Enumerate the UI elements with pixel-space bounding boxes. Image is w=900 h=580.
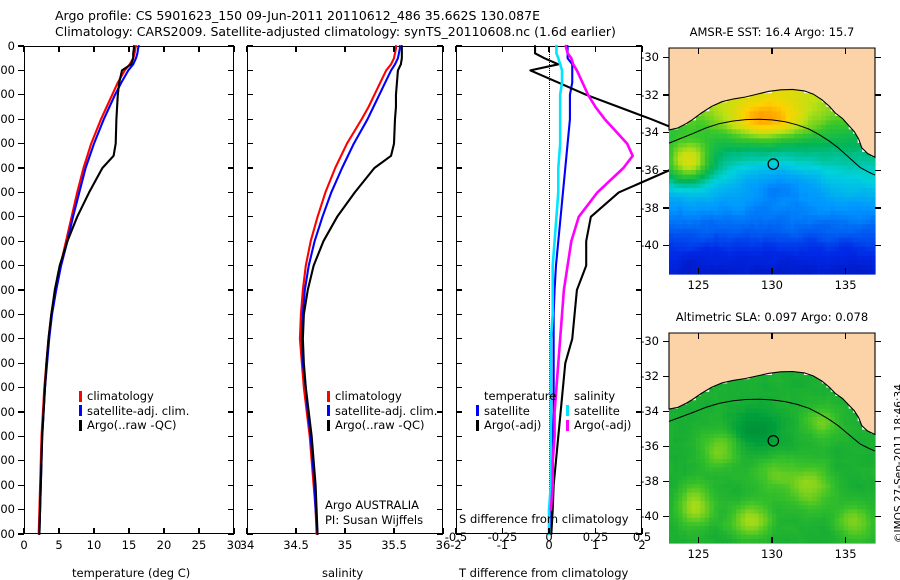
map-y-tick-right	[875, 94, 881, 95]
x-tick-label-temperature: 2	[638, 538, 645, 552]
y-tick-inner	[636, 45, 642, 46]
legend-label: Argo(..raw -QC)	[87, 418, 177, 433]
y-tick-label: 900	[0, 258, 15, 272]
sst-map-field	[669, 48, 875, 274]
page-title: Argo profile: CS 5901623_150 09-Jun-2011…	[55, 8, 675, 40]
legend-swatch-satellite-adj	[79, 405, 82, 416]
y-tick-inner	[228, 119, 234, 120]
y-tick-inner	[437, 265, 443, 266]
map-y-tick-label: -38	[640, 201, 659, 215]
y-tick-inner	[456, 192, 462, 193]
legend-label: satellite	[574, 404, 620, 418]
y-tick-label: 1800	[0, 478, 15, 492]
y-tick-inner	[456, 143, 462, 144]
y-tick-inner	[247, 436, 253, 437]
map-y-tick	[663, 376, 669, 377]
x-tick-top	[246, 46, 247, 52]
y-tick-inner	[456, 436, 462, 437]
y-tick-inner	[636, 387, 642, 388]
y-tick	[18, 314, 24, 315]
x-tick-label-temperature: -1	[497, 538, 508, 552]
y-tick-inner	[437, 70, 443, 71]
x-tick-label: 10	[87, 538, 102, 552]
y-tick-inner	[247, 70, 253, 71]
y-tick	[18, 265, 24, 266]
legend-swatch-temperature-argo-adj	[476, 420, 479, 431]
x-tick-top	[128, 46, 129, 52]
salinity-x-axis-label: salinity	[322, 566, 363, 580]
y-tick-inner	[456, 387, 462, 388]
x-tick-label: 5	[55, 538, 62, 552]
y-tick-inner	[636, 314, 642, 315]
map-y-tick-label: -32	[640, 88, 659, 102]
y-tick-inner	[456, 265, 462, 266]
map-x-tick-label: 125	[687, 278, 709, 292]
y-tick-label: 1700	[0, 453, 15, 467]
map-y-tick-right	[875, 245, 881, 246]
y-tick-inner	[456, 509, 462, 510]
map-x-tick-top	[771, 333, 772, 339]
y-tick	[18, 460, 24, 461]
salinity-curves	[247, 46, 443, 534]
legend-swatch-argo-raw	[327, 420, 330, 431]
y-tick-inner	[247, 289, 253, 290]
legend-label: Argo(-adj)	[574, 418, 631, 432]
legend-item: satellite-adj. clim.	[327, 404, 437, 419]
y-tick-inner	[456, 363, 462, 364]
x-tick-top	[163, 46, 164, 52]
x-tick	[295, 528, 296, 534]
map-x-tick-top	[698, 333, 699, 339]
legend-item: Argo(..raw -QC)	[79, 418, 189, 433]
y-tick-inner	[456, 314, 462, 315]
x-tick-label: 35	[338, 538, 353, 552]
map-x-tick	[771, 268, 772, 274]
y-tick	[18, 119, 24, 120]
y-tick-label: 200	[0, 87, 15, 101]
sla-map-panel: Altimetric SLA: 0.097 Argo: 0.078 125130…	[669, 333, 875, 543]
x-tick-label: 15	[122, 538, 137, 552]
y-tick-inner	[456, 216, 462, 217]
argo-australia-note: Argo AUSTRALIA PI: Susan Wijffels	[325, 498, 423, 527]
map-x-tick	[845, 537, 846, 543]
salinity-legend: climatology satellite-adj. clim. Argo(..…	[327, 389, 437, 433]
map-y-tick-right	[875, 207, 881, 208]
map-y-tick-label: -40	[640, 238, 659, 252]
map-y-tick-right	[875, 446, 881, 447]
map-y-tick	[663, 481, 669, 482]
legend-label: satellite-adj. clim.	[87, 404, 189, 419]
y-tick	[18, 143, 24, 144]
map-y-tick-label: -30	[640, 50, 659, 64]
map-x-tick	[771, 537, 772, 543]
y-tick	[18, 94, 24, 95]
y-tick-inner	[228, 314, 234, 315]
y-tick-inner	[437, 338, 443, 339]
legend-item: climatology	[79, 389, 189, 404]
map-x-tick-top	[771, 48, 772, 54]
difference-curves	[456, 46, 642, 534]
y-tick-inner	[456, 167, 462, 168]
legend-item: satellite	[476, 404, 556, 419]
y-tick-label: 400	[0, 136, 15, 150]
y-tick-inner	[456, 460, 462, 461]
sla-map-title: Altimetric SLA: 0.097 Argo: 0.078	[654, 310, 890, 324]
x-tick-label: 34	[240, 538, 255, 552]
x-tick-top	[442, 46, 443, 52]
title-line-1: Argo profile: CS 5901623_150 09-Jun-2011…	[55, 8, 675, 24]
y-tick-inner	[247, 314, 253, 315]
y-tick-inner	[456, 94, 462, 95]
y-tick-inner	[247, 387, 253, 388]
x-tick	[23, 528, 24, 534]
y-tick-inner	[437, 94, 443, 95]
y-tick-inner	[636, 119, 642, 120]
y-tick-label: 700	[0, 209, 15, 223]
x-tick-temperature	[502, 528, 503, 534]
y-tick-inner	[456, 70, 462, 71]
x-tick-label: 34.5	[283, 538, 309, 552]
y-tick-inner	[247, 509, 253, 510]
y-tick-label: 100	[0, 63, 15, 77]
y-tick-label: 600	[0, 185, 15, 199]
x-tick-top	[23, 46, 24, 52]
y-tick-inner	[228, 241, 234, 242]
y-tick	[18, 436, 24, 437]
map-x-tick-label: 130	[761, 278, 783, 292]
y-tick-inner	[228, 485, 234, 486]
map-y-tick	[663, 341, 669, 342]
y-tick-inner	[456, 338, 462, 339]
x-tick-top	[344, 46, 345, 52]
y-tick-inner	[228, 338, 234, 339]
y-tick-inner	[228, 460, 234, 461]
y-tick-inner	[437, 289, 443, 290]
y-tick-inner	[636, 436, 642, 437]
y-tick-inner	[247, 167, 253, 168]
x-tick	[163, 528, 164, 534]
y-tick-inner	[437, 167, 443, 168]
sst-map-title: AMSR-E SST: 16.4 Argo: 15.7	[654, 25, 890, 39]
x-tick-top	[295, 46, 296, 52]
x-tick-top	[198, 46, 199, 52]
y-tick-inner	[456, 485, 462, 486]
y-tick-label: 800	[0, 234, 15, 248]
y-tick-inner	[437, 533, 443, 534]
y-tick-inner	[228, 70, 234, 71]
y-tick-inner	[247, 265, 253, 266]
legend-swatch-temperature-satellite	[476, 405, 479, 416]
y-tick	[18, 363, 24, 364]
x-tick-label: 25	[192, 538, 207, 552]
y-tick-inner	[247, 411, 253, 412]
y-tick-inner	[636, 363, 642, 364]
map-y-tick	[663, 516, 669, 517]
y-tick-label: 1100	[0, 307, 15, 321]
map-y-tick	[663, 94, 669, 95]
y-tick-inner	[228, 387, 234, 388]
legend-swatch-argo-raw	[79, 420, 82, 431]
map-x-tick	[698, 268, 699, 274]
map-y-tick-right	[875, 341, 881, 342]
y-tick-inner	[456, 533, 462, 534]
y-tick-inner	[228, 216, 234, 217]
y-tick-label: 2000	[0, 527, 15, 541]
legend-label: Argo(-adj)	[484, 418, 541, 432]
y-tick-label: 1900	[0, 502, 15, 516]
y-tick-inner	[636, 460, 642, 461]
y-tick	[18, 509, 24, 510]
temperature-x-axis-label: temperature (deg C)	[72, 566, 190, 580]
legend-swatch-climatology	[79, 391, 82, 402]
y-tick-label: 1200	[0, 331, 15, 345]
sst-map-panel: AMSR-E SST: 16.4 Argo: 15.7 125130135 -3…	[669, 48, 875, 274]
y-tick-inner	[437, 363, 443, 364]
x-tick-label: 35.5	[381, 538, 407, 552]
temperature-legend: climatology satellite-adj. clim. Argo(..…	[79, 389, 189, 433]
y-tick	[18, 192, 24, 193]
map-x-tick-label: 135	[835, 547, 857, 561]
x-tick	[58, 528, 59, 534]
note-line-2: PI: Susan Wijffels	[325, 513, 423, 528]
legend-swatch-salinity-satellite	[566, 405, 569, 416]
y-tick-label: 1500	[0, 405, 15, 419]
y-tick-inner	[247, 119, 253, 120]
y-tick-inner	[456, 289, 462, 290]
x-tick	[198, 528, 199, 534]
legend-label: climatology	[87, 389, 154, 404]
x-tick-top	[233, 46, 234, 52]
y-tick-inner	[636, 70, 642, 71]
y-tick-inner	[456, 45, 462, 46]
legend-header-temperature: temperature	[476, 389, 556, 404]
y-tick-inner	[437, 216, 443, 217]
y-tick-inner	[247, 533, 253, 534]
title-line-2: Climatology: CARS2009. Satellite-adjuste…	[55, 24, 675, 40]
legend-item: climatology	[327, 389, 437, 404]
map-y-tick-right	[875, 516, 881, 517]
legend-item: satellite-adj. clim.	[79, 404, 189, 419]
y-tick-label: 0	[8, 39, 15, 53]
y-tick-inner	[247, 338, 253, 339]
map-y-tick-label: -40	[640, 509, 659, 523]
map-y-tick-right	[875, 411, 881, 412]
y-tick-inner	[247, 143, 253, 144]
legend-label: satellite-adj. clim.	[335, 404, 437, 419]
temperature-panel: 0100200300400500600700800900100011001200…	[24, 46, 234, 534]
y-tick-label: 1600	[0, 429, 15, 443]
y-tick-inner	[437, 192, 443, 193]
y-tick-inner	[247, 192, 253, 193]
map-y-tick-right	[875, 376, 881, 377]
map-x-tick-label: 130	[761, 547, 783, 561]
x-tick-salinity	[548, 46, 549, 52]
y-tick	[18, 338, 24, 339]
map-x-tick-top	[845, 333, 846, 339]
map-y-tick-label: -36	[640, 163, 659, 177]
map-x-tick	[845, 268, 846, 274]
y-tick	[18, 167, 24, 168]
y-tick-inner	[636, 192, 642, 193]
map-x-tick-top	[698, 48, 699, 54]
y-tick-inner	[437, 387, 443, 388]
map-y-tick-label: -34	[640, 404, 659, 418]
y-tick	[18, 70, 24, 71]
x-tick-top	[58, 46, 59, 52]
difference-legend-salinity: salinity satellite Argo(-adj)	[566, 389, 631, 433]
map-y-tick-right	[875, 132, 881, 133]
legend-item: satellite	[566, 404, 631, 419]
map-y-tick-label: -36	[640, 439, 659, 453]
y-tick-inner	[437, 314, 443, 315]
y-tick-inner	[247, 216, 253, 217]
legend-label: climatology	[335, 389, 402, 404]
y-tick-inner	[247, 45, 253, 46]
y-tick-inner	[228, 192, 234, 193]
x-tick-salinity	[595, 46, 596, 52]
y-tick-inner	[437, 509, 443, 510]
y-tick-inner	[247, 485, 253, 486]
y-tick	[18, 387, 24, 388]
map-y-tick	[663, 57, 669, 58]
map-y-tick	[663, 446, 669, 447]
map-y-tick-label: -32	[640, 369, 659, 383]
y-tick-inner	[228, 411, 234, 412]
x-tick	[128, 528, 129, 534]
legend-item: Argo(..raw -QC)	[327, 418, 437, 433]
y-tick-inner	[247, 363, 253, 364]
map-y-tick-label: -30	[640, 334, 659, 348]
y-tick-label: 1000	[0, 283, 15, 297]
map-x-tick-label: 135	[835, 278, 857, 292]
y-tick-inner	[437, 485, 443, 486]
y-tick-inner	[437, 460, 443, 461]
legend-item: Argo(-adj)	[566, 418, 631, 433]
y-tick-inner	[228, 167, 234, 168]
x-tick-label: 0	[20, 538, 27, 552]
legend-swatch-climatology	[327, 391, 330, 402]
x-tick	[93, 528, 94, 534]
y-tick-inner	[636, 289, 642, 290]
x-tick-top	[93, 46, 94, 52]
x-tick-top	[393, 46, 394, 52]
y-tick-inner	[437, 436, 443, 437]
legend-label: satellite	[484, 404, 530, 418]
y-tick-inner	[247, 460, 253, 461]
map-y-tick	[663, 411, 669, 412]
y-tick-inner	[247, 241, 253, 242]
difference-salinity-axis-label: S difference from climatology	[459, 512, 629, 526]
y-tick-inner	[228, 289, 234, 290]
y-tick-inner	[636, 143, 642, 144]
x-tick-salinity	[502, 46, 503, 52]
legend-swatch-satellite-adj	[327, 405, 330, 416]
y-tick-inner	[228, 436, 234, 437]
x-tick-label-temperature: 0	[545, 538, 552, 552]
map-y-tick	[663, 207, 669, 208]
legend-swatch-salinity-argo-adj	[566, 420, 569, 431]
x-tick-salinity	[455, 46, 456, 52]
map-y-tick	[663, 170, 669, 171]
y-tick	[18, 216, 24, 217]
y-tick-label: 300	[0, 112, 15, 126]
y-tick-inner	[437, 411, 443, 412]
y-tick-inner	[437, 241, 443, 242]
legend-header-salinity: salinity	[566, 389, 631, 404]
map-y-tick-right	[875, 170, 881, 171]
difference-legend-temperature: temperature satellite Argo(-adj)	[476, 389, 556, 433]
legend-label: Argo(..raw -QC)	[335, 418, 425, 433]
map-y-tick	[663, 245, 669, 246]
map-x-tick	[698, 537, 699, 543]
map-y-tick-label: -34	[640, 125, 659, 139]
y-tick-inner	[636, 533, 642, 534]
map-x-tick-label: 125	[687, 547, 709, 561]
x-tick-temperature	[548, 528, 549, 534]
map-y-tick	[663, 132, 669, 133]
salinity-panel: 3434.53535.536 salinity climatology sate…	[247, 46, 443, 534]
temperature-curves	[24, 46, 234, 534]
x-tick	[393, 528, 394, 534]
copyright-label: ©IMOS 27-Sep-2011 18:46:34	[893, 384, 900, 543]
x-tick-label: 20	[157, 538, 172, 552]
y-tick-inner	[456, 119, 462, 120]
note-line-1: Argo AUSTRALIA	[325, 498, 423, 513]
x-tick	[233, 528, 234, 534]
y-tick-inner	[636, 265, 642, 266]
y-tick-inner	[228, 363, 234, 364]
y-tick	[18, 289, 24, 290]
y-tick-label: 500	[0, 161, 15, 175]
difference-panel: -0.5-0.2500.250.5 -2-1012 S difference f…	[456, 46, 642, 534]
y-tick-inner	[437, 119, 443, 120]
map-x-tick-top	[845, 48, 846, 54]
x-tick	[344, 528, 345, 534]
x-tick-label-temperature: 1	[592, 538, 599, 552]
sla-map-field	[669, 333, 875, 543]
y-tick-label: 1300	[0, 356, 15, 370]
y-tick	[18, 411, 24, 412]
difference-temperature-axis-label: T difference from climatology	[459, 566, 628, 580]
y-tick-inner	[247, 94, 253, 95]
y-tick-inner	[437, 45, 443, 46]
x-tick-label-temperature: -2	[450, 538, 461, 552]
y-tick-inner	[228, 509, 234, 510]
y-tick-inner	[228, 265, 234, 266]
map-y-tick-right	[875, 481, 881, 482]
y-tick-inner	[228, 94, 234, 95]
y-tick-inner	[456, 241, 462, 242]
map-y-tick-label: -38	[640, 474, 659, 488]
y-tick-label: 1400	[0, 380, 15, 394]
map-y-tick-right	[875, 57, 881, 58]
y-tick	[18, 241, 24, 242]
legend-item: Argo(-adj)	[476, 418, 556, 433]
x-tick-temperature	[595, 528, 596, 534]
y-tick-inner	[437, 143, 443, 144]
y-tick-inner	[456, 411, 462, 412]
y-tick	[18, 485, 24, 486]
y-tick-inner	[636, 216, 642, 217]
y-tick-inner	[228, 143, 234, 144]
